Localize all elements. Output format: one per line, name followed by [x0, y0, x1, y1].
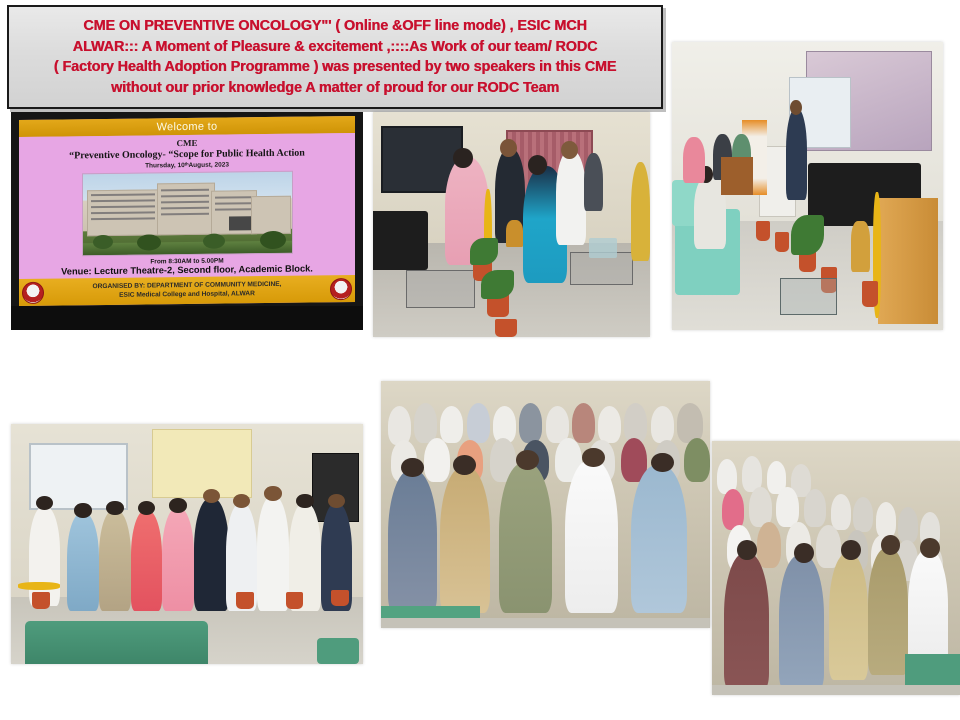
audience-1-head-3 — [516, 450, 539, 470]
plant-foliage-1 — [470, 238, 498, 265]
plant-foliage-speaker — [791, 215, 824, 255]
brass-lamp-stand — [851, 221, 870, 273]
audience-2-head-3 — [841, 540, 861, 560]
group-person-8 — [257, 496, 289, 611]
audience-1-front-person-3 — [499, 463, 552, 614]
group-room-scene — [11, 424, 363, 664]
group-pot-1 — [32, 592, 50, 609]
title-line-2: ALWAR::: A Moment of Pleasure & exciteme… — [54, 37, 617, 58]
person-head-1 — [453, 148, 472, 168]
slide-date: Thursday, 10ᵗʰAugust, 2023 — [19, 160, 355, 171]
potted-plant-a — [756, 221, 770, 241]
audience-2-front-person-2 — [779, 555, 824, 690]
lamp-room-scene — [373, 112, 650, 337]
group-person-5 — [162, 508, 194, 611]
green-bench-foreground — [25, 621, 208, 664]
group-person-2 — [67, 513, 99, 611]
side-table-wood — [721, 157, 754, 194]
tv-lower-bezel — [11, 306, 363, 330]
audience-1-front-person-2 — [440, 467, 489, 613]
glass-table-left — [406, 270, 474, 308]
slide-organiser-banner: ORGANISED BY: DEPARTMENT OF COMMUNITY ME… — [19, 275, 355, 306]
title-line-4: without our prior knowledge A matter of … — [54, 78, 617, 99]
photo-audience-front-rows — [381, 381, 710, 628]
projected-slide-background — [152, 429, 253, 498]
potted-plant-b — [775, 232, 789, 252]
potted-plant-e — [862, 281, 878, 307]
group-head-3 — [106, 501, 124, 515]
title-line-3: ( Factory Health Adoption Programme ) wa… — [54, 57, 617, 78]
photo-speaker-presentation — [672, 42, 943, 330]
speaker-at-lectern — [786, 108, 808, 200]
audience-2-front-person-4 — [868, 548, 908, 675]
group-person-4 — [131, 510, 163, 611]
audience-2-scene — [712, 441, 960, 695]
audience-2-head-1 — [737, 540, 757, 560]
audience-2-head-5 — [920, 538, 940, 558]
attendee-group-left — [683, 137, 705, 183]
group-head-5 — [169, 498, 187, 512]
audience-2-front-person-1 — [724, 553, 769, 690]
brass-lamp — [506, 220, 523, 247]
glass-table-speaker — [780, 278, 836, 315]
audience-1-front-person-1 — [388, 470, 437, 613]
audience-1-head-4 — [582, 448, 605, 468]
wooden-podium-right — [878, 198, 938, 325]
green-chair-right — [317, 638, 359, 664]
group-pot-2 — [236, 592, 254, 609]
photo-group-photograph — [11, 424, 363, 664]
audience-1-floor-strip — [381, 618, 710, 628]
audience-2-front-person-3 — [829, 553, 869, 680]
person-head-2 — [500, 139, 517, 157]
group-head-9 — [296, 494, 314, 508]
audience-1-front-person-4 — [565, 460, 618, 613]
speaker-room-scene — [672, 42, 943, 330]
audience-1-head-5 — [651, 453, 674, 473]
plant-foliage-2 — [481, 270, 514, 299]
audience-1-front-person-5 — [631, 465, 687, 613]
group-person-3 — [99, 510, 131, 611]
group-person-6 — [194, 498, 229, 611]
title-text-block: CME ON PREVENTIVE ONCOLOGY"' ( Online &O… — [48, 16, 623, 98]
group-pot-3 — [286, 592, 304, 609]
slide-organiser-line-2: ESIC Medical College and Hospital, ALWAR — [119, 290, 255, 300]
audience-2-floor-strip — [712, 685, 960, 695]
slide-building-photo — [82, 171, 293, 257]
person-white-shirt — [556, 150, 586, 245]
slide-welcome-text: Welcome to — [157, 120, 218, 133]
title-textbox: CME ON PREVENTIVE ONCOLOGY"' ( Online &O… — [7, 5, 663, 109]
water-bottles — [589, 238, 617, 258]
esic-logo-right-icon — [330, 278, 352, 300]
tv-screen: Welcome to CME “Preventive Oncology- “Sc… — [19, 116, 355, 306]
esic-logo-left-icon — [22, 282, 44, 304]
group-garland — [18, 582, 60, 589]
person-background-right — [584, 153, 603, 212]
audience-2-head-2 — [794, 543, 814, 563]
audience-1-scene — [381, 381, 710, 628]
person-far-right-yellow — [631, 162, 650, 261]
photo-lamp-lighting — [373, 112, 650, 337]
slide-body: CME “Preventive Oncology- “Scope for Pub… — [19, 133, 355, 279]
audience-1-head-1 — [401, 458, 424, 478]
group-head-2 — [74, 503, 92, 517]
potted-plant-3 — [495, 319, 517, 337]
photo-audience-wide — [712, 441, 960, 695]
group-pot-4 — [331, 590, 349, 607]
group-head-8 — [264, 486, 282, 500]
black-sofa — [373, 211, 428, 270]
title-line-1: CME ON PREVENTIVE ONCOLOGY"' ( Online &O… — [54, 16, 617, 37]
photo-projected-slide: Welcome to CME “Preventive Oncology- “Sc… — [11, 112, 363, 330]
